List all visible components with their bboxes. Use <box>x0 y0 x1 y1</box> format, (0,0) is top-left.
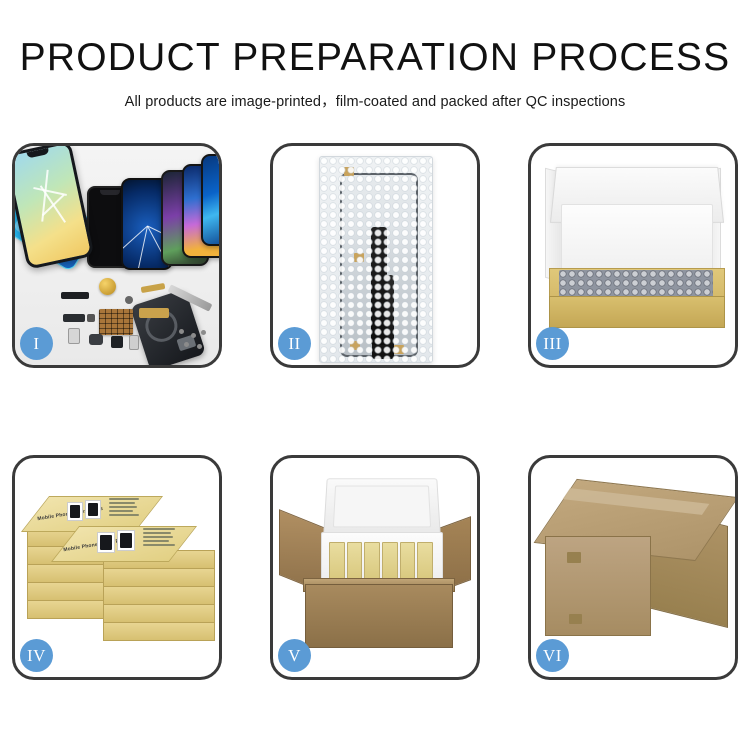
process-steps-grid: I II <box>0 143 750 680</box>
process-row-2: Mobile Phone Spare Parts Mobile Phone Sp… <box>12 455 750 680</box>
blue-streak-phone <box>201 154 219 246</box>
bubble-wrap-bag <box>319 156 433 363</box>
box-photo-front-1 <box>97 532 115 553</box>
box-photo-front-2 <box>117 530 135 551</box>
carton-front-face <box>545 536 651 636</box>
flex-cable-part <box>61 292 89 299</box>
step-panel-bubble-wrap: II <box>270 143 480 368</box>
header: PRODUCT PREPARATION PROCESS All products… <box>0 0 750 111</box>
step-panel-phone-parts: I <box>12 143 222 368</box>
styrofoam-lid <box>323 478 441 535</box>
box-text-lines-rear <box>109 498 151 518</box>
step-panel-sealed-carton: VI <box>528 455 738 680</box>
small-part-d <box>111 336 123 348</box>
bubble-texture <box>320 157 432 362</box>
carton-tab-lower <box>569 614 582 624</box>
step-badge-4: IV <box>20 639 53 672</box>
gold-connector-part <box>139 308 169 318</box>
gold-coil-part <box>99 278 116 295</box>
step-panel-stacked-boxes: Mobile Phone Spare Parts Mobile Phone Sp… <box>12 455 222 680</box>
stacked-box-r5 <box>103 604 215 623</box>
small-part-e <box>129 335 139 350</box>
kraft-box-front <box>549 296 725 328</box>
process-row-1: I II <box>12 143 750 368</box>
step-badge-5: V <box>278 639 311 672</box>
product-preparation-infographic: PRODUCT PREPARATION PROCESS All products… <box>0 0 750 750</box>
small-part-c <box>89 334 103 345</box>
step-badge-6: VI <box>536 639 569 672</box>
stacked-box-r6 <box>103 622 215 641</box>
box-photo-rear-2 <box>85 500 101 519</box>
step-badge-2: II <box>278 327 311 360</box>
foam-sheet <box>561 204 713 274</box>
phone-notch <box>27 148 50 158</box>
inner-kraft-boxes <box>329 542 433 580</box>
box-stack: Mobile Phone Spare Parts Mobile Phone Sp… <box>21 472 219 668</box>
screws-group <box>179 329 209 351</box>
small-part-b <box>68 328 80 344</box>
step-panel-foam-box: III <box>528 143 738 368</box>
stacked-box-r4 <box>103 586 215 605</box>
ic-board-part <box>99 309 133 335</box>
step-badge-3: III <box>536 327 569 360</box>
small-part-f <box>87 314 95 322</box>
step-panel-styrofoam-carton: V <box>270 455 480 680</box>
box-photo-rear-1 <box>67 502 83 521</box>
page-subtitle: All products are image-printed，film-coat… <box>0 90 750 111</box>
small-part-a <box>63 314 85 322</box>
page-title: PRODUCT PREPARATION PROCESS <box>0 38 750 77</box>
box-text-lines-front <box>143 528 185 548</box>
carton-tab-upper <box>567 552 581 563</box>
carton-body <box>305 584 453 648</box>
small-part-g <box>125 296 133 304</box>
step-badge-1: I <box>20 327 53 360</box>
stacked-box-r3 <box>103 568 215 587</box>
